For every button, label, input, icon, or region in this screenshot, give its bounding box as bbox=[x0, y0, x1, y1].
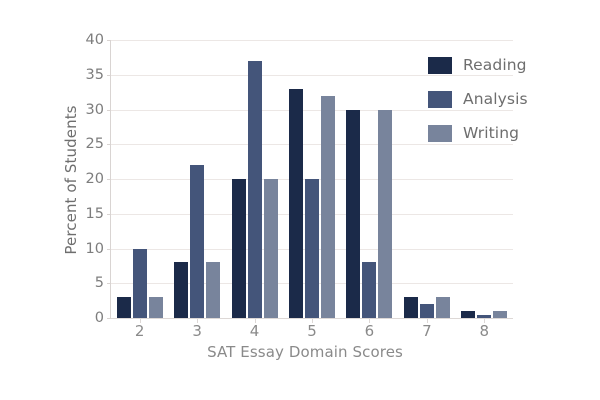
bar-reading-7 bbox=[404, 297, 418, 318]
x-tick-mark bbox=[197, 319, 198, 323]
y-tick-mark bbox=[107, 144, 111, 145]
y-tick-label: 40 bbox=[64, 32, 104, 48]
legend-item-writing[interactable]: Writing bbox=[428, 116, 528, 150]
x-tick-label: 6 bbox=[365, 322, 375, 340]
y-tick-label: 25 bbox=[64, 136, 104, 152]
bar-analysis-7 bbox=[420, 304, 434, 318]
bar-analysis-6 bbox=[362, 262, 376, 318]
y-tick-mark bbox=[107, 40, 111, 41]
bar-reading-2 bbox=[117, 297, 131, 318]
y-axis-tick-labels: 0510152025303540 bbox=[62, 40, 104, 318]
y-tick-label: 20 bbox=[64, 171, 104, 187]
x-tick-label: 4 bbox=[250, 322, 260, 340]
y-tick-mark bbox=[107, 214, 111, 215]
bar-reading-5 bbox=[289, 89, 303, 318]
legend-label: Writing bbox=[463, 124, 519, 142]
bar-writing-5 bbox=[321, 96, 335, 318]
bar-analysis-5 bbox=[305, 179, 319, 318]
legend-label: Reading bbox=[463, 56, 527, 74]
y-tick-label: 35 bbox=[64, 67, 104, 83]
x-tick-label: 2 bbox=[135, 322, 145, 340]
bar-group bbox=[283, 40, 340, 318]
y-tick-label: 10 bbox=[64, 241, 104, 257]
legend-swatch-icon bbox=[428, 91, 452, 108]
y-tick-mark bbox=[107, 318, 111, 319]
bar-group bbox=[226, 40, 283, 318]
x-tick-label: 7 bbox=[422, 322, 432, 340]
x-tick-mark bbox=[140, 319, 141, 323]
bar-reading-8 bbox=[461, 311, 475, 318]
x-tick-label: 8 bbox=[480, 322, 490, 340]
bar-analysis-2 bbox=[133, 249, 147, 319]
y-tick-mark bbox=[107, 179, 111, 180]
x-tick-mark bbox=[255, 319, 256, 323]
y-tick-mark bbox=[107, 75, 111, 76]
legend-label: Analysis bbox=[463, 90, 528, 108]
legend-swatch-icon bbox=[428, 125, 452, 142]
bar-writing-2 bbox=[149, 297, 163, 318]
y-tick-label: 15 bbox=[64, 206, 104, 222]
y-tick-label: 5 bbox=[64, 275, 104, 291]
legend-swatch-icon bbox=[428, 57, 452, 74]
bar-group bbox=[111, 40, 168, 318]
x-axis-title: SAT Essay Domain Scores bbox=[95, 343, 515, 361]
bar-group bbox=[168, 40, 225, 318]
bar-reading-3 bbox=[174, 262, 188, 318]
bar-group bbox=[341, 40, 398, 318]
x-tick-label: 3 bbox=[192, 322, 202, 340]
bar-analysis-3 bbox=[190, 165, 204, 318]
bar-reading-6 bbox=[346, 110, 360, 319]
bar-writing-4 bbox=[264, 179, 278, 318]
x-tick-mark bbox=[427, 319, 428, 323]
bar-analysis-4 bbox=[248, 61, 262, 318]
legend-item-analysis[interactable]: Analysis bbox=[428, 82, 528, 116]
legend: ReadingAnalysisWriting bbox=[428, 48, 528, 150]
x-tick-mark bbox=[484, 319, 485, 323]
y-tick-label: 30 bbox=[64, 102, 104, 118]
y-tick-mark bbox=[107, 283, 111, 284]
bar-writing-7 bbox=[436, 297, 450, 318]
bar-writing-3 bbox=[206, 262, 220, 318]
bar-reading-4 bbox=[232, 179, 246, 318]
y-tick-mark bbox=[107, 249, 111, 250]
x-tick-mark bbox=[312, 319, 313, 323]
legend-item-reading[interactable]: Reading bbox=[428, 48, 528, 82]
y-tick-mark bbox=[107, 110, 111, 111]
bar-writing-6 bbox=[378, 110, 392, 319]
bar-writing-8 bbox=[493, 311, 507, 318]
x-tick-mark bbox=[369, 319, 370, 323]
bar-analysis-8 bbox=[477, 315, 491, 318]
x-tick-label: 5 bbox=[307, 322, 317, 340]
y-tick-label: 0 bbox=[64, 310, 104, 326]
bar-chart: Percent of Students SAT Essay Domain Sco… bbox=[0, 0, 600, 400]
